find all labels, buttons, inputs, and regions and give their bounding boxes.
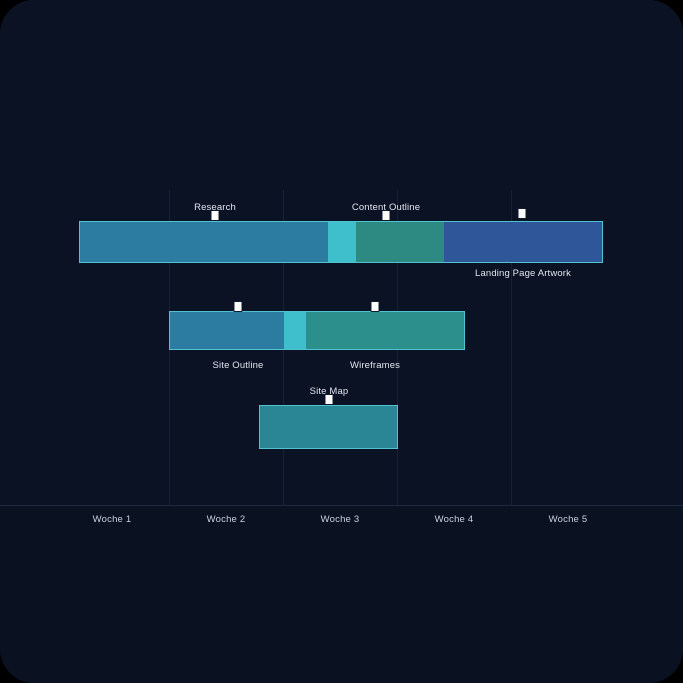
task-handle-site-outline[interactable] — [234, 301, 243, 312]
gantt-chart-canvas: ResearchContent OutlineLanding Page Artw… — [0, 0, 683, 683]
site-outline-segment[interactable] — [170, 312, 284, 349]
task-handle-content-outline[interactable] — [382, 210, 391, 221]
axis-tick-label-2: Woche 2 — [207, 514, 246, 525]
task-handle-landing-page-artwork[interactable] — [518, 208, 527, 219]
content-outline-segment[interactable] — [356, 222, 444, 262]
task-bar-1[interactable] — [79, 221, 603, 263]
task-handle-site-map[interactable] — [325, 394, 334, 405]
task-label-landing-page-artwork: Landing Page Artwork — [475, 268, 571, 279]
axis-tick-label-5: Woche 5 — [549, 514, 588, 525]
task-bar-2[interactable] — [169, 311, 465, 350]
highlight-segment[interactable] — [284, 312, 306, 349]
task-label-wireframes: Wireframes — [350, 360, 400, 371]
task-bar-3[interactable] — [259, 405, 398, 449]
research-segment[interactable] — [80, 222, 328, 262]
site-map-segment[interactable] — [260, 406, 398, 448]
axis-tick-label-3: Woche 3 — [321, 514, 360, 525]
axis-tick-label-1: Woche 1 — [93, 514, 132, 525]
x-axis-band — [0, 506, 683, 683]
highlight-segment[interactable] — [328, 222, 356, 262]
task-handle-research[interactable] — [211, 210, 220, 221]
task-handle-wireframes[interactable] — [371, 301, 380, 312]
axis-tick-label-4: Woche 4 — [435, 514, 474, 525]
landing-page-artwork-segment[interactable] — [444, 222, 603, 262]
task-label-site-outline: Site Outline — [213, 360, 264, 371]
wireframes-segment[interactable] — [306, 312, 465, 349]
